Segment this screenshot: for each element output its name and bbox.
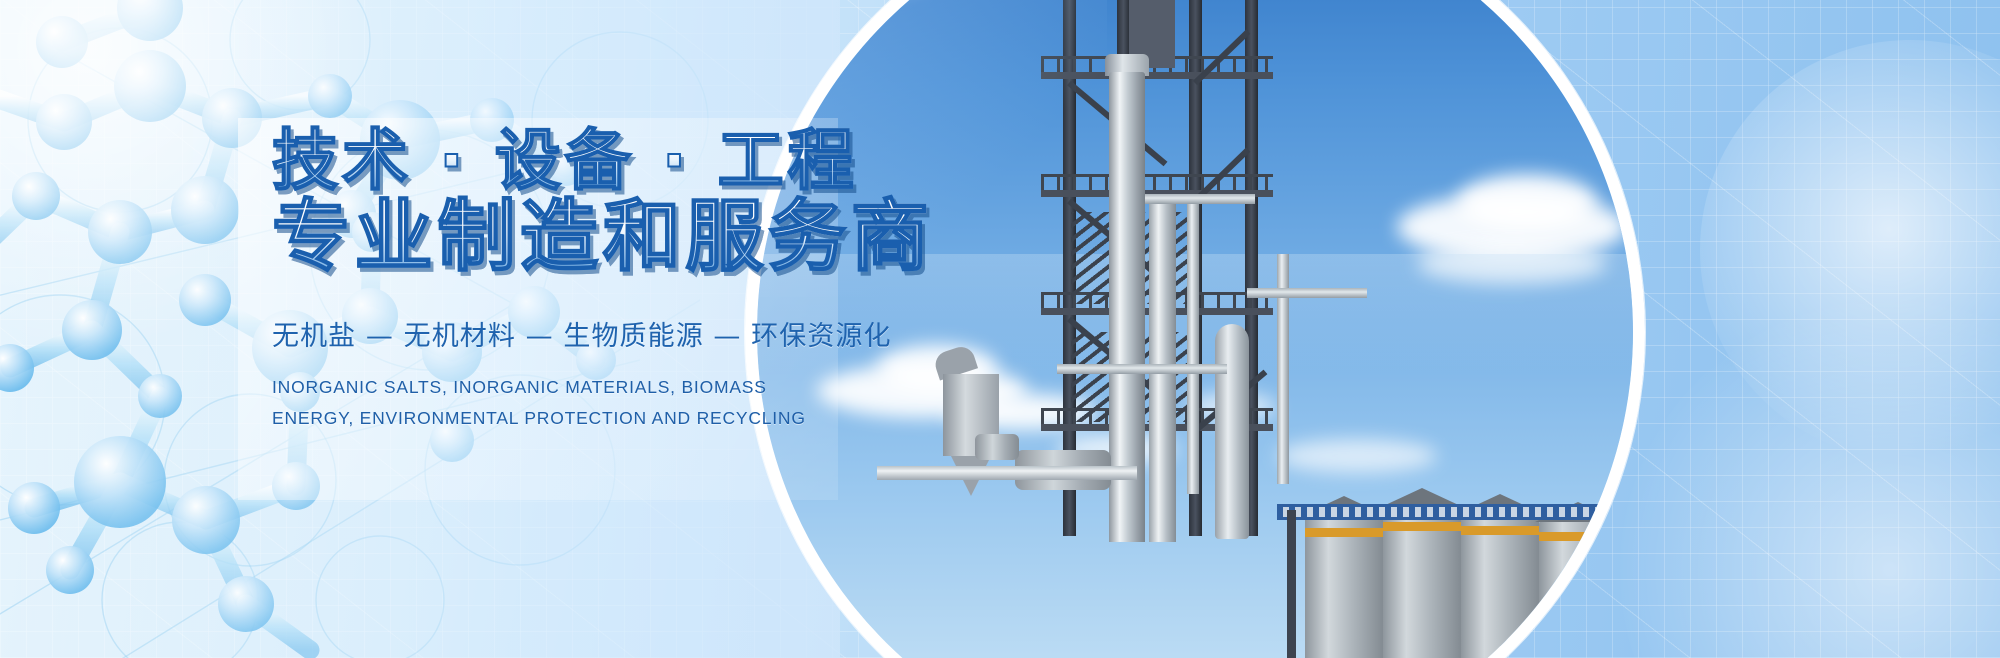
storage-silo [1305,514,1383,658]
process-vessel [1215,324,1249,539]
headline-line-1: 技术 · 设备 · 工程 [272,128,972,194]
hero-banner: 技术 · 设备 · 工程 专业制造和服务商 无机盐 — 无机材料 — 生物质能源… [0,0,2000,658]
process-pipe [1247,288,1367,298]
pump-unit [975,434,1019,460]
banner-text-block: 技术 · 设备 · 工程 专业制造和服务商 无机盐 — 无机材料 — 生物质能源… [272,128,972,433]
silo-catwalk [1277,504,1633,520]
cloud [1277,439,1437,473]
headline-line-2: 专业制造和服务商 [272,198,972,276]
process-pipe [1145,194,1255,204]
process-pipe [1187,194,1199,494]
storage-silo [1539,520,1617,658]
subtitle-chinese: 无机盐 — 无机材料 — 生物质能源 — 环保资源化 [272,314,972,353]
subtitle-english: INORGANIC SALTS, INORGANIC MATERIALS, BI… [272,372,812,433]
banner-headline: 技术 · 设备 · 工程 专业制造和服务商 [272,128,972,276]
process-pipe [877,466,1137,480]
cloud [1457,174,1597,230]
storage-silo [1383,506,1461,658]
silo-support [1287,510,1296,658]
storage-silo [1461,512,1539,658]
process-pipe [1057,364,1227,374]
